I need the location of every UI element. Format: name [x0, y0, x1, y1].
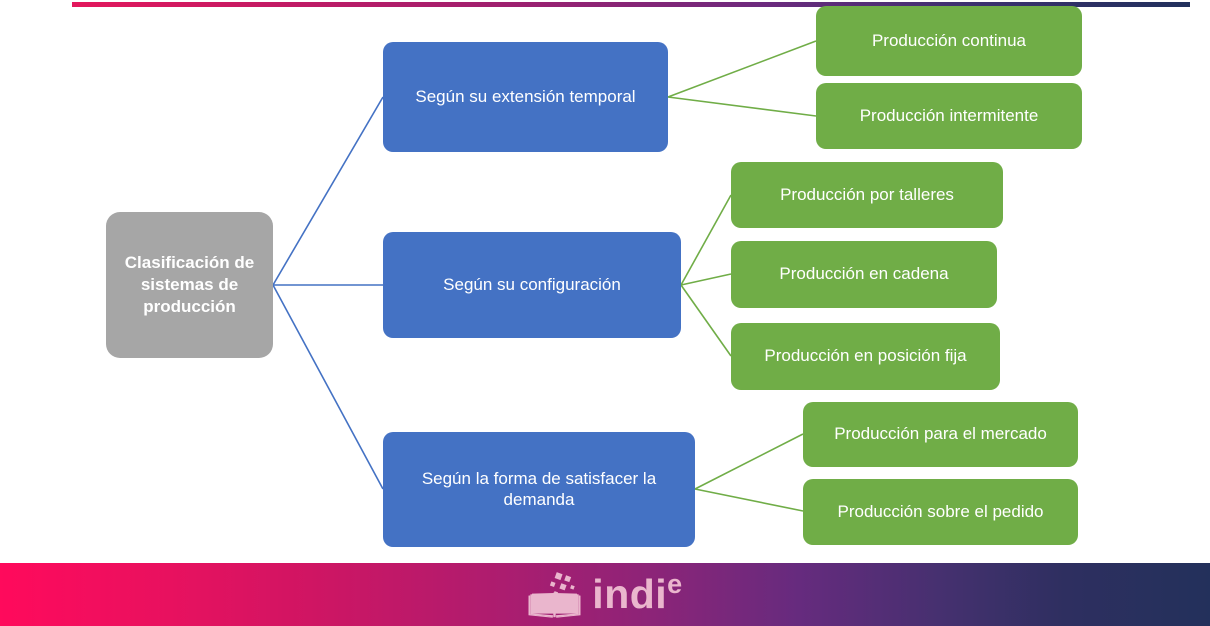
- node-branch-3[interactable]: Según la forma de satisfacer la demanda: [383, 432, 695, 547]
- node-leaf-produccion-en-posicion-fija[interactable]: Producción en posición fija: [731, 323, 1000, 390]
- node-branch-2[interactable]: Según su configuración: [383, 232, 681, 338]
- connector-root-to-branch-3: [273, 285, 383, 489]
- connector-branch-2-to-leaf-3: [681, 285, 731, 356]
- connector-branch-3-to-leaf-1: [695, 434, 803, 489]
- brand-superscript: e: [667, 571, 683, 598]
- branch-2-connector-group: [681, 195, 731, 356]
- node-leaf-produccion-en-cadena[interactable]: Producción en cadena: [731, 241, 997, 308]
- connector-branch-3-to-leaf-2: [695, 489, 803, 511]
- connector-branch-2-to-leaf-1: [681, 195, 731, 285]
- node-leaf-produccion-sobre-el-pedido[interactable]: Producción sobre el pedido: [803, 479, 1078, 545]
- node-leaf-produccion-por-talleres[interactable]: Producción por talleres: [731, 162, 1003, 228]
- brand-lockup: indie: [527, 572, 682, 618]
- connector-branch-1-to-leaf-1: [668, 41, 816, 97]
- org-chart-diagram: Clasificación de sistemas de producción …: [0, 0, 1210, 560]
- brand-wordmark: indie: [592, 574, 682, 615]
- node-root[interactable]: Clasificación de sistemas de producción: [106, 212, 273, 358]
- branch-1-connector-group: [668, 41, 816, 116]
- root-connector-group: [273, 97, 383, 489]
- slide-canvas: Clasificación de sistemas de producción …: [0, 0, 1210, 626]
- branch-3-connector-group: [695, 434, 803, 511]
- node-leaf-produccion-continua[interactable]: Producción continua: [816, 6, 1082, 76]
- connector-root-to-branch-1: [273, 97, 383, 285]
- open-book-icon: [527, 572, 583, 618]
- node-branch-1[interactable]: Según su extensión temporal: [383, 42, 668, 152]
- brand-name: indi: [592, 574, 667, 615]
- connector-branch-1-to-leaf-2: [668, 97, 816, 116]
- node-leaf-produccion-intermitente[interactable]: Producción intermitente: [816, 83, 1082, 149]
- node-leaf-produccion-para-el-mercado[interactable]: Producción para el mercado: [803, 402, 1078, 467]
- brand-logo: indie: [0, 563, 1210, 626]
- connector-branch-2-to-leaf-2: [681, 274, 731, 285]
- footer-bar: indie: [0, 563, 1210, 626]
